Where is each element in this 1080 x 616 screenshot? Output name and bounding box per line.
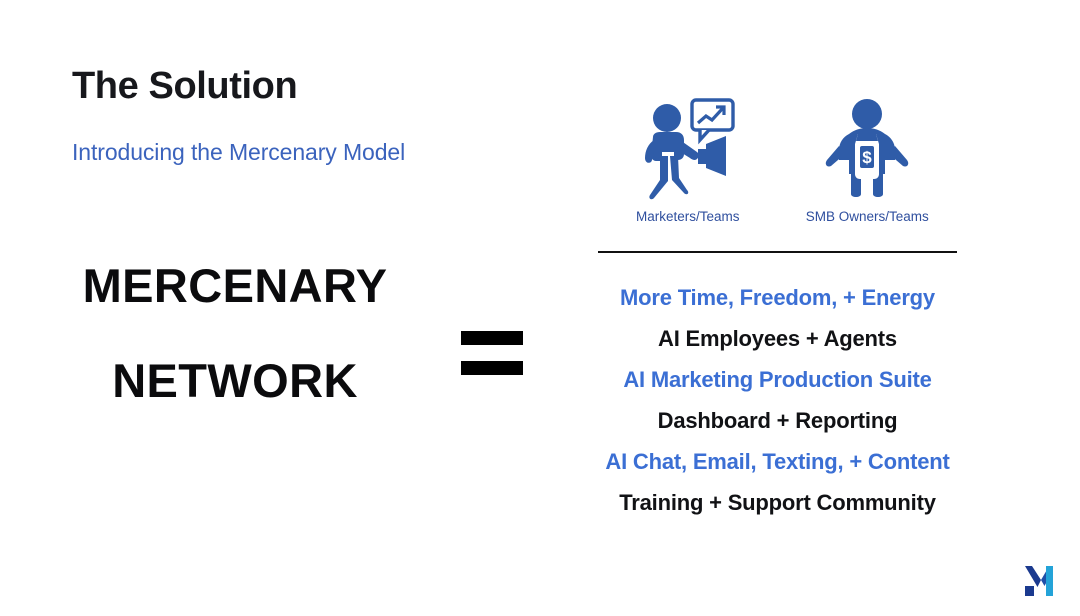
benefit-item: Dashboard + Reporting [658,400,898,441]
slide-canvas: The Solution Introducing the Mercenary M… [0,0,1080,616]
benefit-item: AI Chat, Email, Texting, + Content [605,441,949,482]
persona-label-marketers: Marketers/Teams [636,209,740,224]
benefit-list: More Time, Freedom, + Energy AI Employee… [598,277,957,523]
m-monogram-logo [1018,560,1058,602]
svg-text:$: $ [863,148,873,167]
equation-word-network: NETWORK [40,357,430,404]
equals-sign-icon [461,331,523,375]
equals-bar-bottom [461,361,523,375]
page-title: The Solution [72,66,297,108]
persona-label-smb-owners: SMB Owners/Teams [806,209,929,224]
benefit-item: More Time, Freedom, + Energy [620,277,935,318]
benefit-item: AI Marketing Production Suite [623,359,931,400]
page-subtitle: Introducing the Mercenary Model [72,139,405,167]
marketer-megaphone-chart-icon [640,93,736,201]
persona-smb-owners: $ SMB Owners/Teams [792,93,942,224]
equation-left-term: MERCENARY NETWORK [40,262,430,404]
equation-word-mercenary: MERCENARY [40,262,430,309]
smb-owner-apron-dollar-icon: $ [823,93,911,201]
equals-bar-top [461,331,523,345]
persona-group: Marketers/Teams [598,96,957,224]
benefit-item: Training + Support Community [619,482,935,523]
panel-divider [598,251,957,253]
benefit-item: AI Employees + Agents [658,318,897,359]
solution-panel: Marketers/Teams [598,96,957,523]
persona-marketers: Marketers/Teams [613,93,763,224]
